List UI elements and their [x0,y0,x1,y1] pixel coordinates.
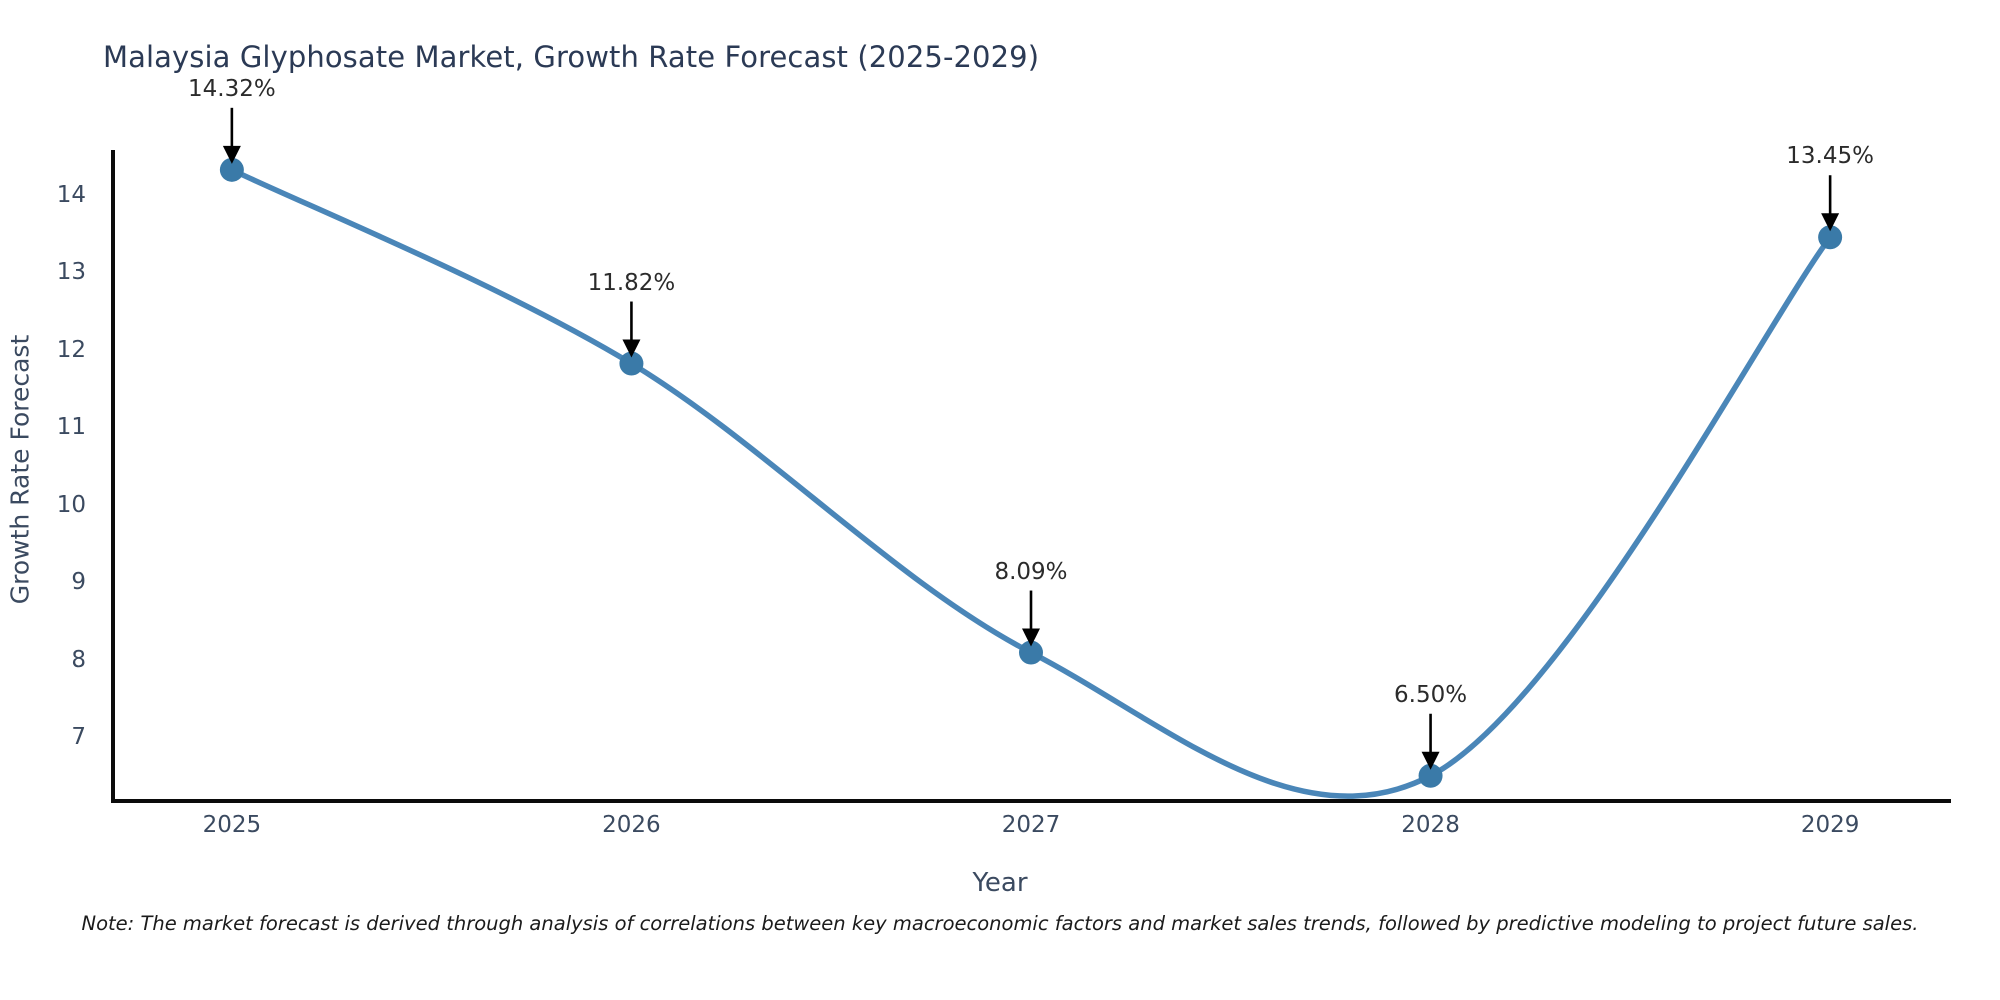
y-tick-label: 8 [0,647,98,673]
data-point-marker[interactable] [619,352,643,376]
chart-footnote: Note: The market forecast is derived thr… [0,912,2000,935]
data-point-marker[interactable] [220,158,244,182]
x-tick-label: 2025 [203,812,262,838]
y-tick-label: 13 [0,259,98,285]
x-tick-label: 2026 [602,812,661,838]
x-tick-label: 2027 [1002,812,1061,838]
data-point-label: 14.32% [188,76,276,102]
annotation-arrow-head [622,340,640,358]
y-axis-spine [111,150,115,802]
data-point-label: 8.09% [994,559,1067,585]
y-tick-label: 12 [0,337,98,363]
y-tick-label: 7 [0,724,98,750]
y-tick-label: 14 [0,182,98,208]
data-point-marker[interactable] [1419,764,1443,788]
annotation-arrow-head [1422,752,1440,770]
y-axis-ticks: 1413121110987 [0,0,100,1000]
chart-root: Malaysia Glyphosate Market, Growth Rate … [0,0,2000,1000]
series-markers [220,158,1842,788]
data-point-label: 13.45% [1786,143,1874,169]
y-tick-label: 11 [0,414,98,440]
x-tick-label: 2028 [1401,812,1460,838]
x-tick-label: 2029 [1801,812,1860,838]
data-point-label: 11.82% [588,270,676,296]
annotation-arrow-head [1022,629,1040,647]
x-axis-label: Year [0,868,2000,898]
data-point-label: 6.50% [1394,682,1467,708]
chart-title: Malaysia Glyphosate Market, Growth Rate … [103,40,1039,74]
x-axis-spine [111,799,1951,803]
y-tick-label: 10 [0,492,98,518]
series-line [232,170,1830,796]
annotation-arrows [223,108,1839,770]
annotation-arrow-head [1821,213,1839,231]
line-series-svg [0,0,2000,1000]
annotation-arrow-head [223,146,241,164]
y-tick-label: 9 [0,569,98,595]
data-point-marker[interactable] [1019,641,1043,665]
data-point-marker[interactable] [1818,225,1842,249]
